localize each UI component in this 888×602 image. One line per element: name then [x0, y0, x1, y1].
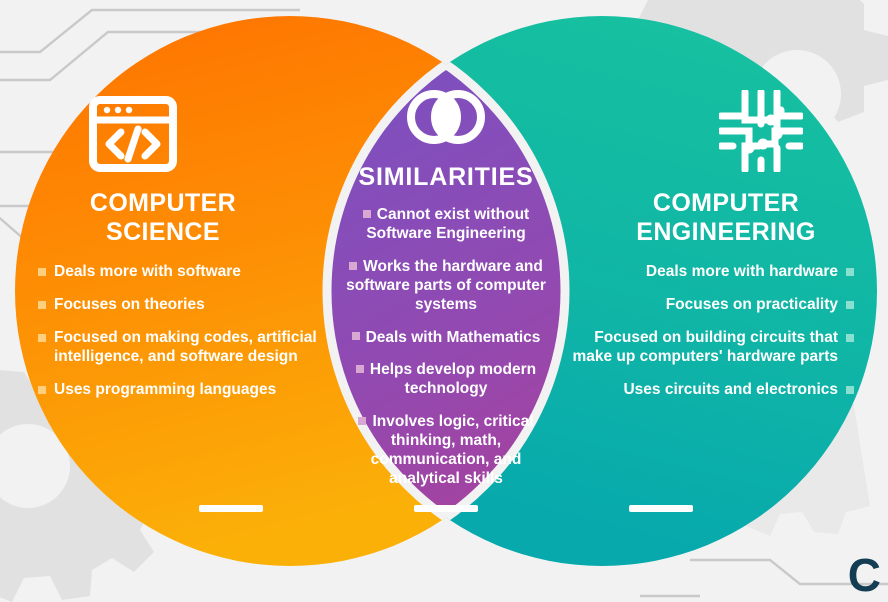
list-item: Focuses on theories — [36, 296, 326, 315]
bullet-square-icon — [352, 332, 360, 340]
page-title-left: COMPUTER SCIENCE — [36, 189, 326, 247]
bullet-square-icon — [846, 386, 854, 394]
divider-center — [414, 505, 478, 512]
bullet-square-icon — [38, 334, 46, 342]
list-item-label: Deals with Mathematics — [366, 329, 541, 346]
page-title-center: SIMILARITIES — [346, 163, 546, 192]
list-item-label: Cannot exist without Software Engineerin… — [366, 206, 529, 242]
panel-computer-engineering: COMPUTER ENGINEERING Deals more with har… — [566, 90, 856, 414]
list-item-label: Focuses on practicality — [666, 296, 838, 313]
list-item: Deals more with hardware — [566, 263, 856, 282]
list-item: Focuses on practicality — [566, 296, 856, 315]
bullet-square-icon — [358, 417, 366, 425]
brand-logo: C — [848, 552, 880, 598]
list-item: Deals with Mathematics — [346, 329, 546, 348]
bullet-square-icon — [846, 334, 854, 342]
panel-computer-science: COMPUTER SCIENCE Deals more with softwar… — [36, 96, 326, 414]
list-item: Uses programming languages — [36, 381, 326, 400]
divider-left — [199, 505, 263, 512]
list-item: Deals more with software — [36, 263, 326, 282]
list-item-label: Deals more with software — [54, 263, 241, 280]
bullet-square-icon — [846, 268, 854, 276]
bullet-square-icon — [38, 386, 46, 394]
venn-circles-icon — [346, 88, 546, 151]
bullet-square-icon — [846, 301, 854, 309]
infographic-canvas: COMPUTER SCIENCE Deals more with softwar… — [0, 0, 888, 602]
microchip-icon — [566, 90, 803, 177]
list-item-label: Deals more with hardware — [646, 263, 838, 280]
list-item: Involves logic, critical thinking, math,… — [346, 413, 546, 489]
list-item-label: Focused on making codes, artificial inte… — [54, 329, 317, 365]
bullet-list-center: Cannot exist without Software Engineerin… — [346, 206, 546, 489]
content-layer: COMPUTER SCIENCE Deals more with softwar… — [0, 0, 888, 602]
bullet-square-icon — [349, 262, 357, 270]
page-title-right: COMPUTER ENGINEERING — [566, 189, 856, 247]
list-item: Helps develop modern technology — [346, 361, 546, 399]
list-item: Works the hardware and software parts of… — [346, 258, 546, 315]
bullet-square-icon — [38, 301, 46, 309]
bullet-list-right: Deals more with hardware Focuses on prac… — [566, 263, 856, 400]
list-item: Focused on making codes, artificial inte… — [36, 329, 326, 367]
list-item: Uses circuits and electronics — [566, 381, 856, 400]
list-item: Cannot exist without Software Engineerin… — [346, 206, 546, 244]
list-item-label: Helps develop modern technology — [370, 361, 536, 397]
list-item-label: Involves logic, critical thinking, math,… — [371, 413, 534, 487]
list-item-label: Focused on building circuits that make u… — [572, 329, 838, 365]
bullet-square-icon — [356, 365, 364, 373]
code-window-icon — [89, 96, 326, 177]
bullet-square-icon — [38, 268, 46, 276]
list-item-label: Focuses on theories — [54, 296, 205, 313]
list-item-label: Uses programming languages — [54, 381, 276, 398]
list-item-label: Uses circuits and electronics — [623, 381, 838, 398]
panel-similarities: SIMILARITIES Cannot exist without Softwa… — [346, 88, 546, 503]
divider-right — [629, 505, 693, 512]
bullet-square-icon — [363, 210, 371, 218]
list-item: Focused on building circuits that make u… — [566, 329, 856, 367]
list-item-label: Works the hardware and software parts of… — [346, 258, 546, 313]
bullet-list-left: Deals more with software Focuses on theo… — [36, 263, 326, 400]
